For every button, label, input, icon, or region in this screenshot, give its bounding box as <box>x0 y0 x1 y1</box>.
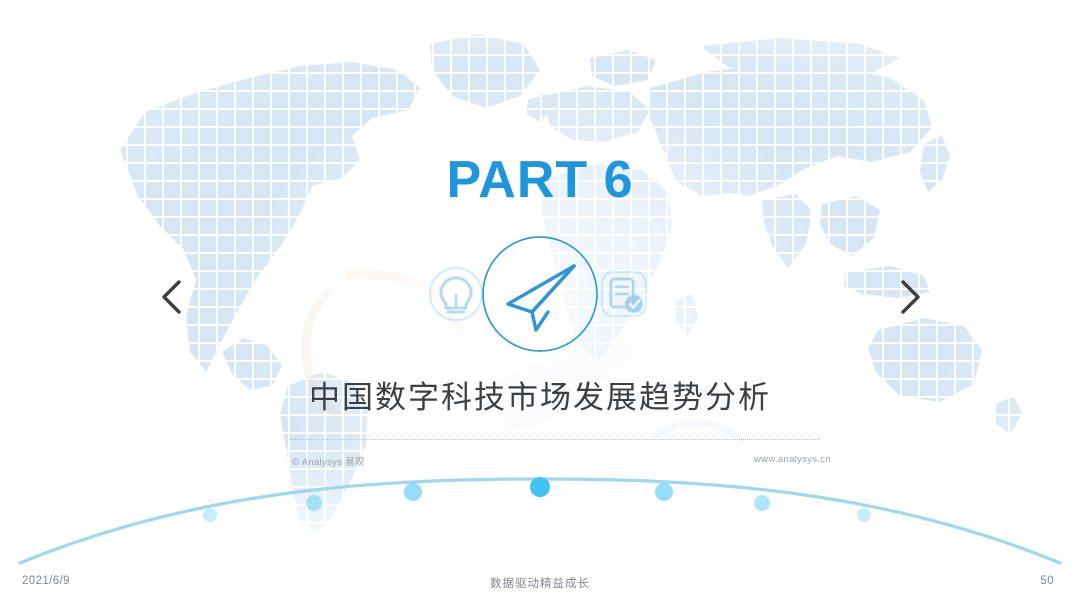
arc-dot[interactable] <box>404 483 422 501</box>
arc-dot[interactable] <box>655 483 673 501</box>
chevron-left-icon <box>158 277 186 317</box>
footer-page-number: 50 <box>1040 575 1054 587</box>
arc-dot-active[interactable] <box>530 477 550 497</box>
arc-dot[interactable] <box>203 508 217 522</box>
slide-title: 中国数字科技市场发展趋势分析 <box>0 372 1080 417</box>
arc-dot[interactable] <box>306 495 322 511</box>
previous-slide-arrow[interactable] <box>150 272 194 322</box>
chevron-right-icon <box>896 277 924 317</box>
divider-rule <box>290 439 820 441</box>
footer-tagline: 数据驱动精益成长 <box>0 575 1080 591</box>
copyright-text: © Analysys 易观 <box>292 454 365 468</box>
website-url: www.analysys.cn <box>754 454 831 465</box>
document-check-icon <box>594 264 654 324</box>
presentation-slide: PART 6 中国数字科技市场发展趋 <box>0 0 1080 608</box>
next-slide-arrow[interactable] <box>888 272 932 322</box>
part-label: PART 6 <box>0 150 1080 210</box>
slide-footer: 2021/6/9 数据驱动精益成长 50 <box>0 566 1080 608</box>
icon-cluster <box>420 232 660 356</box>
arc-dot[interactable] <box>754 495 770 511</box>
paper-plane-icon <box>478 232 602 356</box>
arc-dot[interactable] <box>857 508 871 522</box>
lightbulb-icon <box>426 264 486 324</box>
